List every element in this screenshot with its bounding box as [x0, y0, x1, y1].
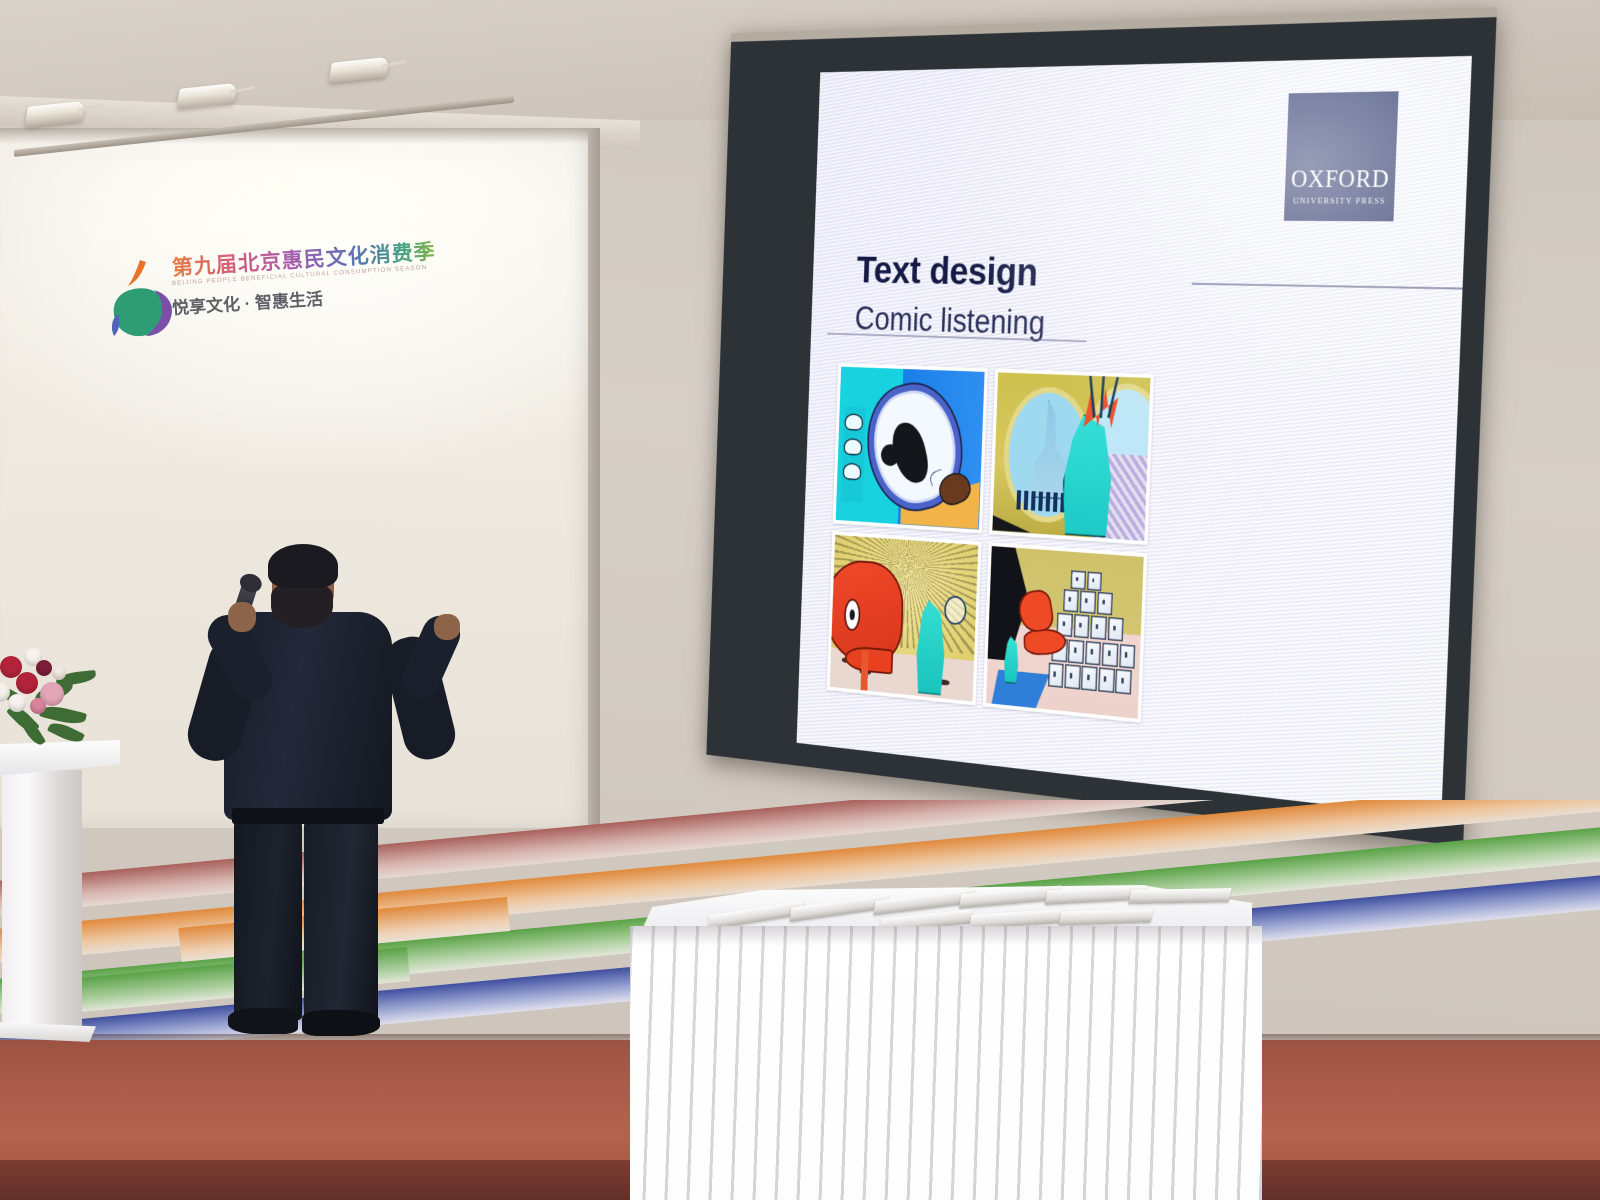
presenter-shoe-right [302, 1010, 380, 1036]
crate [1048, 663, 1064, 688]
comic-strip-grid [827, 363, 1154, 723]
crate [1063, 589, 1079, 612]
presenter-hair [268, 544, 338, 588]
conference-stage-photo: 第九届北京惠民文化消费季 BEIJING PEOPLE BENEFICIAL C… [0, 0, 1600, 1200]
oup-subtitle: UNIVERSITY PRESS [1293, 196, 1386, 206]
crate [1080, 590, 1096, 614]
comic-panel-3 [827, 531, 982, 706]
crate [1064, 664, 1080, 689]
bird-leg [860, 650, 868, 691]
crate [1073, 614, 1089, 639]
comic-panel-1 [833, 363, 988, 533]
oup-wordmark: OXFORD [1291, 167, 1390, 192]
slide-title: Text design [856, 249, 1039, 296]
crate [1097, 592, 1114, 616]
presenter-leg-right [304, 820, 378, 1020]
fair-logo: 第九届北京惠民文化消费季 BEIJING PEOPLE BENEFICIAL C… [110, 248, 400, 358]
crate [1119, 644, 1136, 669]
crate [1087, 572, 1102, 591]
presenter [176, 540, 456, 1030]
book [1128, 888, 1231, 904]
crate [1107, 617, 1124, 642]
fair-logo-tagline: 悦享文化 · 智惠生活 [171, 285, 323, 319]
projection-screen[interactable]: OXFORD UNIVERSITY PRESS Text design Comi… [706, 7, 1497, 846]
table-skirt [630, 926, 1262, 1200]
crate [1071, 571, 1086, 590]
flower [52, 666, 66, 680]
presentation-slide[interactable]: OXFORD UNIVERSITY PRESS Text design Comi… [797, 56, 1472, 818]
flower [36, 660, 52, 676]
floral-arrangement [0, 626, 108, 756]
crate [1090, 615, 1107, 640]
claw-shape [841, 407, 867, 503]
presenter-leg-left [234, 820, 302, 1020]
crate [1098, 668, 1115, 693]
title-rule [1192, 283, 1463, 290]
crate [1115, 669, 1132, 694]
crate [1102, 642, 1119, 667]
comic-panel-1-art [836, 367, 985, 530]
flower [30, 698, 46, 714]
table-skirt-shadow [630, 926, 1262, 946]
presenter-belt [232, 808, 384, 824]
crate [1068, 639, 1084, 664]
comic-panel-2 [989, 369, 1154, 545]
booth-wall-edge [588, 128, 600, 828]
flower [16, 672, 38, 694]
presenter-hand-left [228, 602, 256, 632]
lectern [0, 740, 120, 1040]
presenter-shoe-left [228, 1008, 298, 1034]
crate [1085, 641, 1102, 666]
oxford-university-press-logo: OXFORD UNIVERSITY PRESS [1284, 91, 1399, 221]
lectern-column [2, 770, 82, 1038]
comic-panel-4-art [986, 546, 1144, 719]
comic-panel-3-art [830, 534, 978, 701]
display-table [630, 874, 1262, 1200]
comic-panel-4 [982, 542, 1147, 723]
bird-eye [845, 600, 859, 629]
comic-panel-2-art [992, 372, 1151, 540]
presenter-hand-right [434, 614, 460, 640]
presenter-beard [271, 584, 333, 628]
blue-mat [991, 669, 1049, 710]
flower [8, 694, 26, 712]
crate [1081, 666, 1097, 691]
